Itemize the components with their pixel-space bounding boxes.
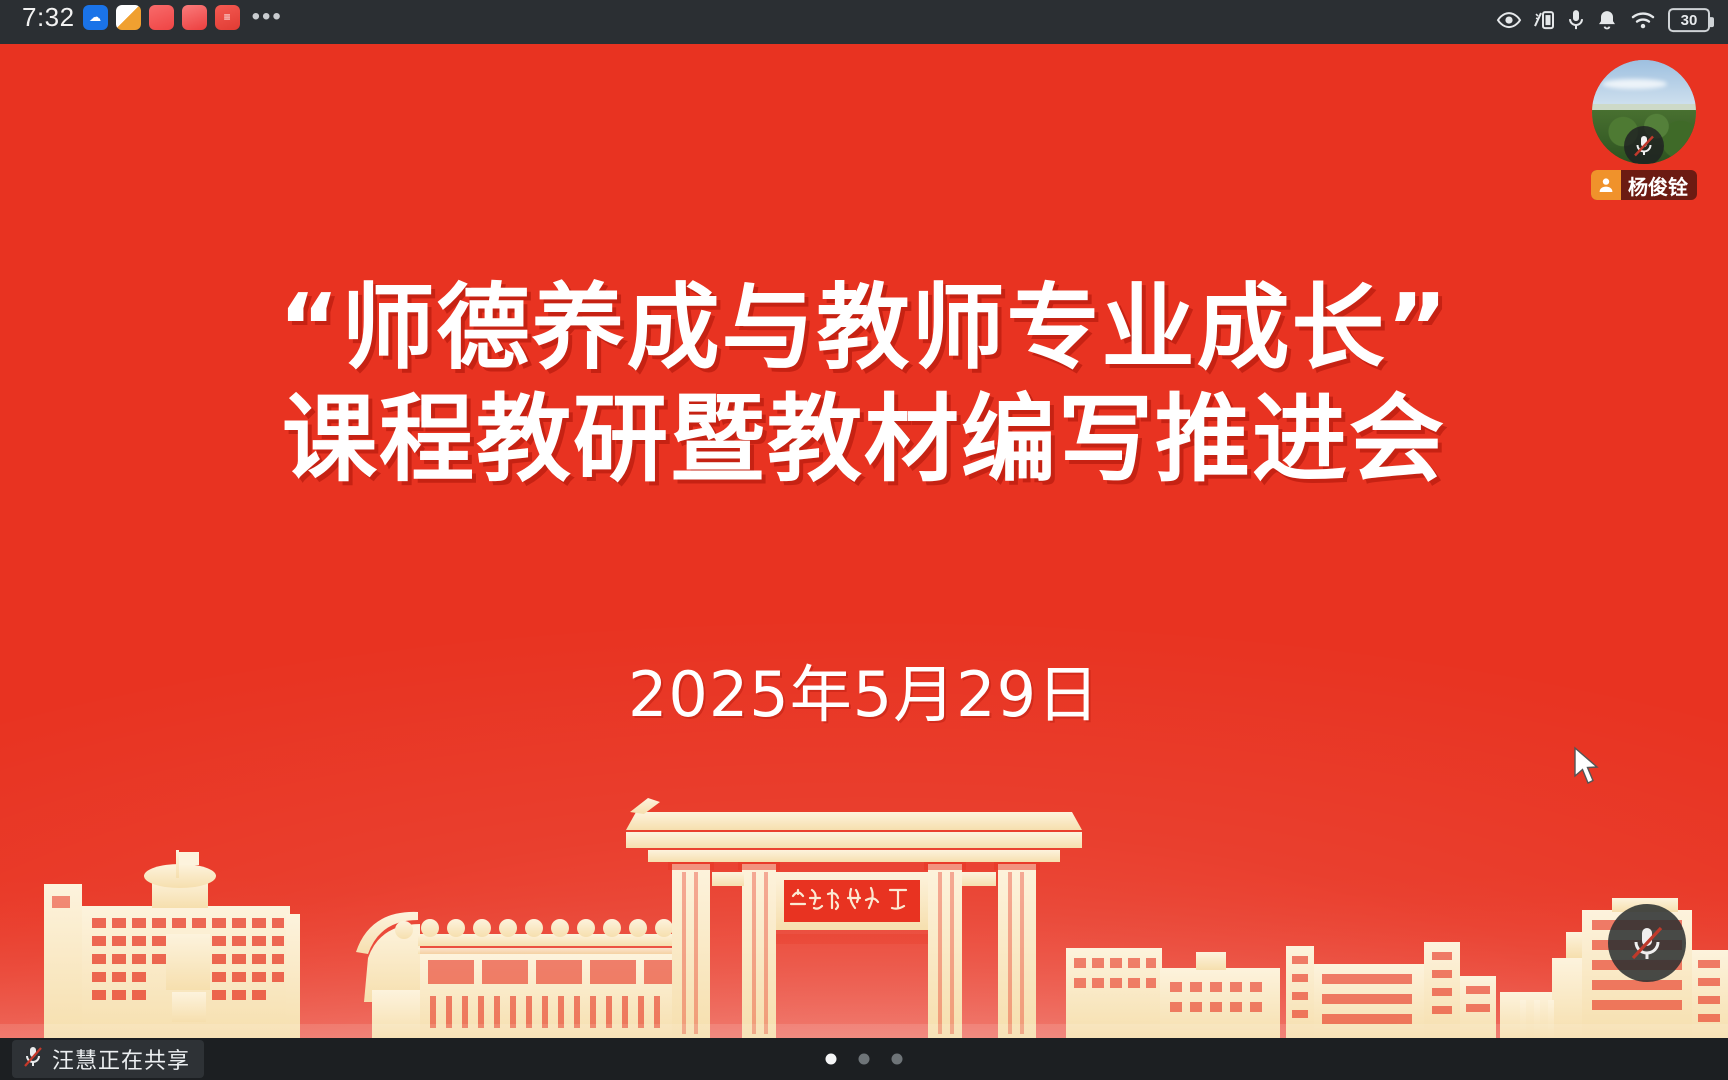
avatar — [1592, 60, 1696, 164]
wifi-icon — [1630, 10, 1656, 30]
sharing-status-text: 汪慧正在共享 — [52, 1043, 190, 1075]
page-dot-1[interactable] — [826, 1054, 837, 1065]
red-app-icon-1[interactable] — [149, 5, 174, 30]
cloud-app-icon[interactable]: ☁ — [83, 5, 108, 30]
system-status-bar: 7:32 ☁ ≡ ••• 30 — [0, 0, 1728, 44]
microphone-icon — [1568, 9, 1584, 31]
mute-microphone-button[interactable] — [1608, 904, 1686, 982]
eye-care-icon — [1496, 11, 1522, 29]
status-bar-clock: 7:32 — [22, 2, 75, 33]
battery-indicator: 30 — [1668, 8, 1710, 32]
red-app-icon-3-glyph: ≡ — [224, 11, 231, 23]
status-bar-overflow-icon[interactable]: ••• — [248, 12, 283, 22]
slide-page-dots[interactable] — [826, 1054, 903, 1065]
photos-app-icon[interactable] — [116, 5, 141, 30]
sharing-status-pill[interactable]: 汪慧正在共享 — [12, 1040, 204, 1078]
slide-date: 2025年5月29日 — [0, 644, 1728, 734]
campus-skyline-illustration — [0, 738, 1728, 1038]
mic-muted-small-icon — [22, 1045, 44, 1074]
avatar-cloud — [1602, 79, 1666, 89]
page-dot-2[interactable] — [859, 1054, 870, 1065]
red-app-icon-3[interactable]: ≡ — [215, 5, 240, 30]
mic-muted-icon — [1624, 126, 1664, 164]
red-app-icon-2[interactable] — [182, 5, 207, 30]
cloud-app-icon-glyph: ☁ — [89, 11, 101, 23]
slide-title-block: “师德养成与教师专业成长” 课程教研暨教材编写推进会 — [0, 272, 1728, 496]
status-bar-left-group: 7:32 ☁ ≡ ••• — [0, 2, 283, 33]
shared-slide-content: “师德养成与教师专业成长” 课程教研暨教材编写推进会 2025年5月29日 — [0, 44, 1728, 1038]
meeting-screen: 7:32 ☁ ≡ ••• 30 — [0, 0, 1728, 1080]
participant-name: 杨俊铨 — [1621, 171, 1697, 200]
battery-level-label: 30 — [1681, 12, 1698, 29]
bell-silent-icon — [1596, 9, 1618, 31]
page-dot-3[interactable] — [892, 1054, 903, 1065]
slide-title-line-2: 课程教研暨教材编写推进会 — [0, 384, 1728, 496]
status-bar-right-group: 30 — [1496, 8, 1710, 32]
participant-tile[interactable]: 杨俊铨 — [1590, 60, 1698, 200]
mic-off-icon — [1625, 921, 1669, 965]
host-person-icon — [1591, 170, 1621, 200]
slide-title-line-1: “师德养成与教师专业成长” — [0, 272, 1728, 384]
bottom-bar: 汪慧正在共享 — [0, 1038, 1728, 1080]
participant-name-badge: 杨俊铨 — [1591, 170, 1697, 200]
vibrate-sim-icon — [1534, 10, 1556, 30]
